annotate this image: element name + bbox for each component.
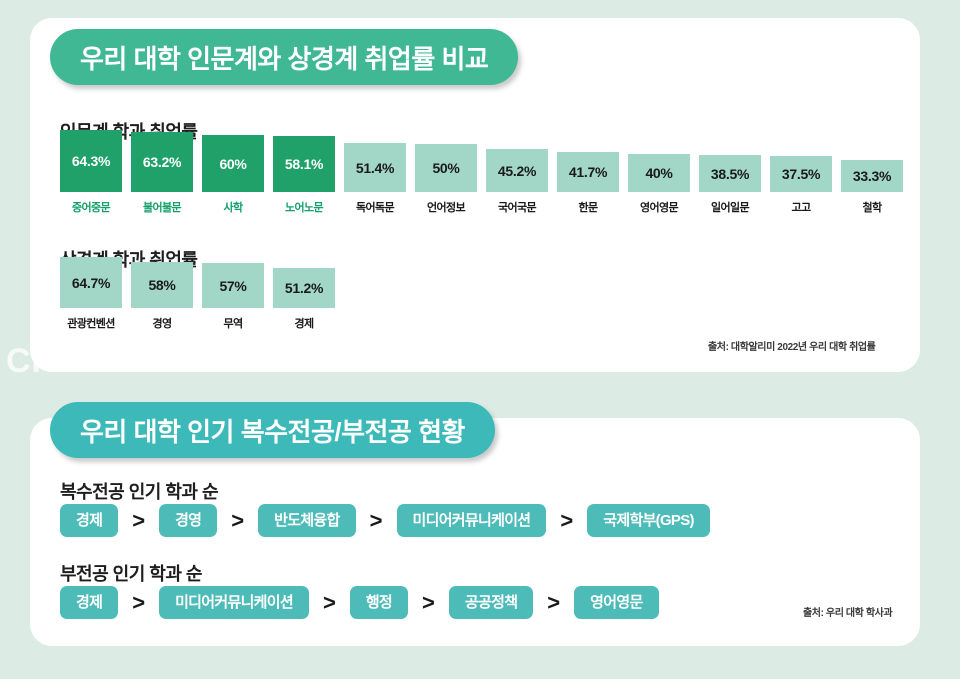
double-major-section-title: 복수전공 인기 학과 순 — [60, 478, 218, 504]
bar-column: 57%무역 — [202, 263, 264, 331]
bar-category-label: 국어국문 — [498, 199, 536, 215]
rank-separator-icon: > — [370, 510, 383, 532]
bar-value-label: 51.2% — [285, 280, 323, 296]
bar-category-label: 한문 — [578, 199, 597, 215]
bar: 45.2% — [486, 149, 548, 192]
rank-separator-icon: > — [132, 592, 145, 614]
minor-rank-row: 경제>미디어커뮤니케이션>행정>공공정책>영어영문 — [60, 586, 659, 619]
bar: 51.4% — [344, 143, 406, 192]
bar: 63.2% — [131, 132, 193, 192]
bar-column: 64.7%관광컨벤션 — [60, 257, 122, 331]
bar-value-label: 33.3% — [853, 168, 891, 184]
bar-category-label: 독어독문 — [356, 199, 394, 215]
bar-column: 50%언어정보 — [415, 144, 477, 215]
bar: 58.1% — [273, 136, 335, 192]
bar-value-label: 57% — [219, 278, 246, 294]
bar-column: 40%영어영문 — [628, 154, 690, 215]
bar: 41.7% — [557, 152, 619, 192]
minor-pill[interactable]: 미디어커뮤니케이션 — [159, 586, 309, 619]
humanities-bar-chart: 64.3%중어중문63.2%불어불문60%사학58.1%노어노문51.4%독어독… — [60, 148, 910, 215]
rank-separator-icon: > — [231, 510, 244, 532]
bar-value-label: 40% — [645, 165, 672, 181]
card2-header-title: 우리 대학 인기 복수전공/부전공 현황 — [80, 412, 465, 449]
bar-value-label: 45.2% — [498, 163, 536, 179]
bar-category-label: 영어영문 — [640, 199, 678, 215]
bar: 37.5% — [770, 156, 832, 192]
rank-separator-icon: > — [560, 510, 573, 532]
bar: 51.2% — [273, 268, 335, 308]
bar-value-label: 51.4% — [356, 160, 394, 176]
bar: 60% — [202, 135, 264, 192]
bar-category-label: 고고 — [791, 199, 810, 215]
bar-column: 51.2%경제 — [273, 268, 335, 331]
double-major-rank-row: 경제>경영>반도체융합>미디어커뮤니케이션>국제학부(GPS) — [60, 504, 710, 537]
bar-column: 38.5%일어일문 — [699, 155, 761, 215]
bar-column: 45.2%국어국문 — [486, 149, 548, 215]
commerce-bar-chart: 64.7%관광컨벤션58%경영57%무역51.2%경제 — [60, 276, 350, 331]
bar-value-label: 38.5% — [711, 166, 749, 182]
bar-category-label: 불어불문 — [143, 199, 181, 215]
bar-value-label: 64.3% — [72, 153, 110, 169]
minor-pill[interactable]: 공공정책 — [449, 586, 533, 619]
minor-pill[interactable]: 행정 — [350, 586, 408, 619]
bar-column: 63.2%불어불문 — [131, 132, 193, 215]
rank-separator-icon: > — [323, 592, 336, 614]
double-major-pill[interactable]: 경영 — [159, 504, 217, 537]
bar-column: 41.7%한문 — [557, 152, 619, 215]
minor-section-title: 부전공 인기 학과 순 — [60, 560, 202, 586]
bar: 57% — [202, 263, 264, 308]
double-major-pill[interactable]: 국제학부(GPS) — [587, 504, 710, 537]
bar-column: 58.1%노어노문 — [273, 136, 335, 215]
minor-pill[interactable]: 영어영문 — [574, 586, 658, 619]
double-major-pill[interactable]: 경제 — [60, 504, 118, 537]
bar-category-label: 무역 — [223, 315, 242, 331]
bar-category-label: 경영 — [152, 315, 171, 331]
minor-pill[interactable]: 경제 — [60, 586, 118, 619]
card2-source-note: 출처: 우리 대학 학사과 — [803, 604, 892, 619]
bar-category-label: 언어정보 — [427, 199, 465, 215]
card1-source-note: 출처: 대학알리미 2022년 우리 대학 취업률 — [708, 338, 875, 353]
bar-category-label: 철학 — [862, 199, 881, 215]
bar-value-label: 50% — [432, 160, 459, 176]
rank-separator-icon: > — [547, 592, 560, 614]
bar-value-label: 58% — [148, 277, 175, 293]
bar-value-label: 58.1% — [285, 156, 323, 172]
card1-header-pill: 우리 대학 인문계와 상경계 취업률 비교 — [50, 29, 518, 85]
bar-value-label: 41.7% — [569, 164, 607, 180]
rank-separator-icon: > — [132, 510, 145, 532]
bar-column: 60%사학 — [202, 135, 264, 215]
bar-column: 33.3%철학 — [841, 160, 903, 215]
double-major-pill[interactable]: 반도체융합 — [258, 504, 356, 537]
card1-header-title: 우리 대학 인문계와 상경계 취업률 비교 — [80, 39, 488, 76]
bar: 64.7% — [60, 257, 122, 308]
rank-separator-icon: > — [422, 592, 435, 614]
bar: 58% — [131, 262, 193, 308]
bar: 38.5% — [699, 155, 761, 192]
bar-value-label: 63.2% — [143, 154, 181, 170]
bar-column: 64.3%중어중문 — [60, 130, 122, 215]
card2-header-pill: 우리 대학 인기 복수전공/부전공 현황 — [50, 402, 495, 458]
bar: 33.3% — [841, 160, 903, 192]
bar-category-label: 관광컨벤션 — [67, 315, 115, 331]
bar-value-label: 60% — [219, 156, 246, 172]
bar-column: 37.5%고고 — [770, 156, 832, 215]
bar-column: 58%경영 — [131, 262, 193, 331]
bar-category-label: 경제 — [294, 315, 313, 331]
bar-category-label: 중어중문 — [72, 199, 110, 215]
bar: 64.3% — [60, 130, 122, 192]
bar-category-label: 사학 — [223, 199, 242, 215]
bar-value-label: 64.7% — [72, 275, 110, 291]
bar: 50% — [415, 144, 477, 192]
double-major-pill[interactable]: 미디어커뮤니케이션 — [397, 504, 547, 537]
bar-category-label: 일어일문 — [711, 199, 749, 215]
bar: 40% — [628, 154, 690, 192]
bar-category-label: 노어노문 — [285, 199, 323, 215]
bar-column: 51.4%독어독문 — [344, 143, 406, 215]
bar-value-label: 37.5% — [782, 166, 820, 182]
